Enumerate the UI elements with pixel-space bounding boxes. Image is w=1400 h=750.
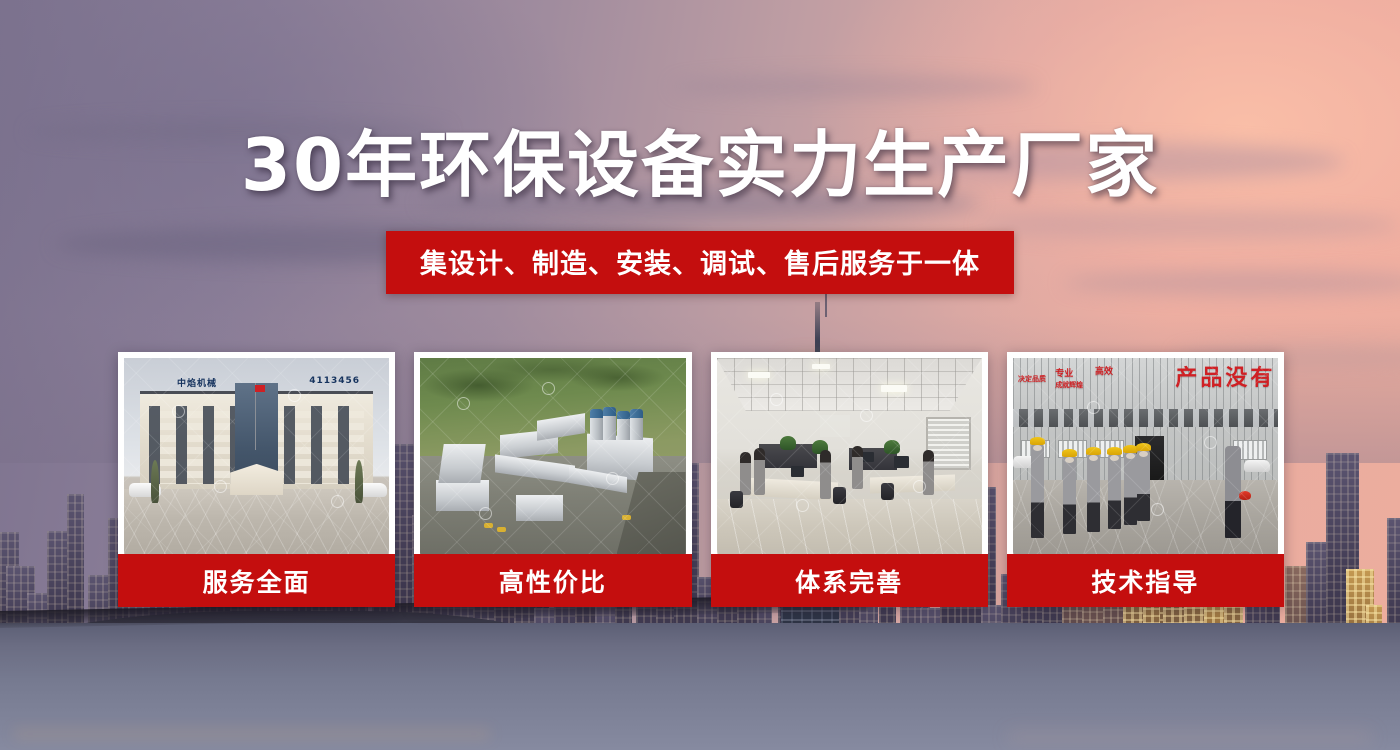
supervisor [1225, 446, 1241, 538]
factory-worker [1137, 450, 1150, 521]
company-phone-text: 4113456 [309, 376, 360, 386]
water-reflection [14, 730, 490, 743]
promotional-banner: 30年环保设备实力生产厂家 集设计、制造、安装、调试、售后服务于一体 中焰机械 … [0, 0, 1400, 750]
flag-pole [255, 383, 256, 450]
potted-plant [884, 440, 900, 454]
office-chair [833, 487, 846, 504]
cloud-band [980, 210, 1400, 240]
office-ceiling [717, 358, 982, 411]
cloud-band [672, 75, 1036, 98]
feature-card[interactable]: 决定品质 专业 成就辉煌 高效 产品没有 [1007, 352, 1284, 607]
construction-vehicle [622, 515, 631, 520]
office-worker [852, 446, 863, 489]
loading-shed [516, 495, 564, 520]
construction-vehicle [484, 523, 493, 528]
wall-slogan-small: 决定品质 [1018, 374, 1046, 384]
feature-card[interactable]: 中焰机械 4113456 服务全面 [118, 352, 395, 607]
storage-silo [590, 409, 603, 440]
potted-plant [780, 436, 796, 450]
wall-slogan-small: 高效 [1095, 364, 1113, 377]
office-worker [820, 450, 831, 499]
ceiling-light [748, 372, 770, 378]
company-headquarters-staff-photo: 中焰机械 4113456 [124, 358, 389, 554]
office-chair [881, 483, 894, 500]
storage-silo [617, 411, 630, 440]
wall-slogan-small: 专业 [1055, 366, 1073, 379]
page-title: 30年环保设备实力生产厂家 [0, 128, 1400, 204]
factory-worker [1124, 452, 1137, 525]
office-floor [717, 499, 982, 554]
wall-slogan-small: 成就辉煌 [1055, 380, 1083, 390]
aerial-industrial-plant-photo [420, 358, 685, 554]
company-sign-text: 中焰机械 [177, 376, 217, 389]
plant-tower-row [439, 444, 487, 483]
water-reflection [1008, 732, 1372, 747]
subtitle-banner: 集设计、制造、安装、调试、售后服务于一体 [386, 231, 1014, 294]
feature-card-label: 技术指导 [1007, 554, 1284, 607]
feature-card-label: 服务全面 [118, 554, 395, 607]
cloud-band [1064, 270, 1400, 296]
ceiling-light [881, 385, 907, 392]
storage-silo [603, 407, 616, 440]
office-interior-staff-photo [717, 358, 982, 554]
computer-monitor [894, 456, 909, 468]
feature-card[interactable]: 高性价比 [414, 352, 691, 607]
plant-workshop [436, 480, 489, 511]
feature-card[interactable]: 体系完善 [711, 352, 988, 607]
factory-worker [1031, 444, 1044, 538]
ceiling-light [812, 364, 830, 369]
storage-silo [630, 409, 643, 440]
computer-monitor [791, 466, 804, 477]
chinese-flag [255, 385, 265, 392]
feature-card-label: 体系完善 [711, 554, 988, 607]
feature-card-list: 中焰机械 4113456 服务全面 [118, 352, 1284, 607]
office-worker [754, 448, 765, 495]
factory-wall-band [1013, 409, 1278, 427]
feature-card-label: 高性价比 [414, 554, 691, 607]
river-water [0, 623, 1400, 750]
factory-worker [1063, 456, 1076, 534]
parked-car [1244, 460, 1270, 472]
office-worker [740, 452, 751, 495]
wall-decal [820, 415, 850, 437]
construction-vehicle [497, 527, 506, 532]
factory-worker [1087, 454, 1100, 532]
office-chair [730, 491, 743, 508]
factory-worker [1108, 454, 1121, 528]
factory-workers-training-photo: 决定品质 专业 成就辉煌 高效 产品没有 [1013, 358, 1278, 554]
computer-monitor [862, 452, 874, 462]
office-worker [923, 450, 934, 495]
wall-slogan-main: 产品没有 [1175, 360, 1275, 392]
